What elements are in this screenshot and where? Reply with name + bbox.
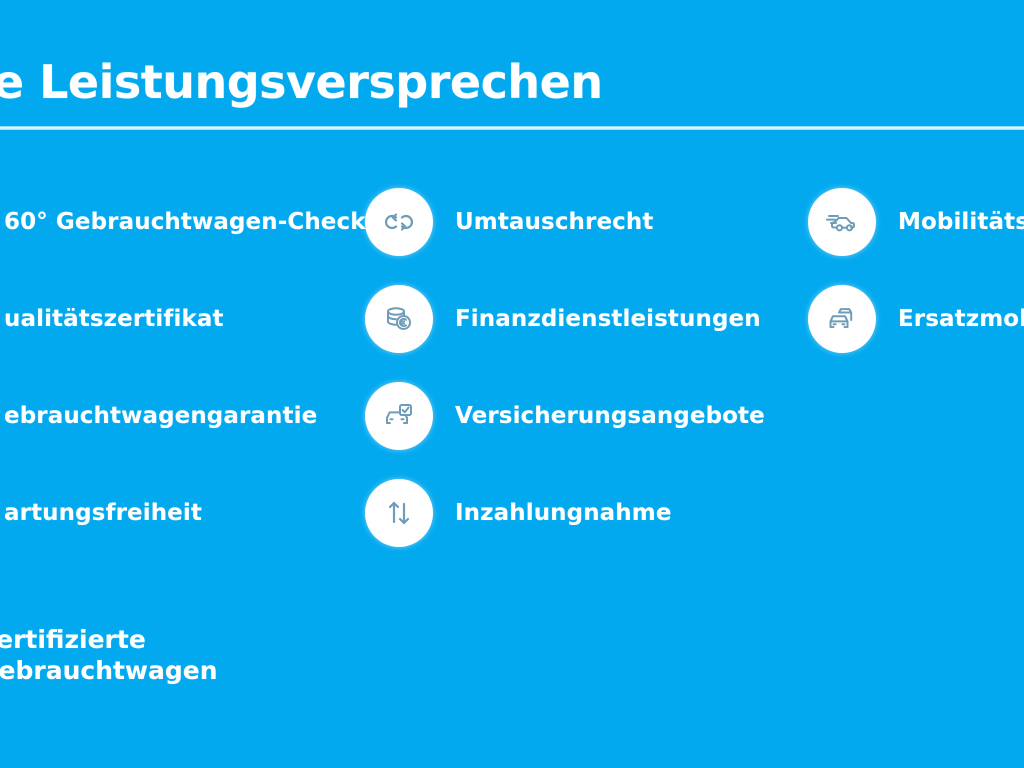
list-item[interactable]: Versicherungsangebote — [365, 382, 765, 450]
coins-euro-icon — [365, 285, 433, 353]
list-item-label: 60° Gebrauchtwagen-Check — [4, 209, 366, 235]
list-item-label: artungsfreiheit — [4, 500, 202, 526]
list-item[interactable]: Inzahlungnahme — [365, 479, 672, 547]
list-item[interactable]: Ersatzmob — [808, 285, 1024, 353]
page-header: ere Leistungsversprechen — [0, 0, 1024, 128]
up-down-arrows-icon — [365, 479, 433, 547]
list-item-label: ebrauchtwagengarantie — [4, 403, 317, 429]
two-cars-icon — [808, 285, 876, 353]
car-speed-icon — [808, 188, 876, 256]
list-item-label: Inzahlungnahme — [455, 500, 672, 526]
list-item[interactable]: ualitätszertifikat — [0, 285, 224, 353]
list-item[interactable]: Umtauschrecht — [365, 188, 653, 256]
list-item[interactable]: Finanzdienstleistungen — [365, 285, 761, 353]
list-item[interactable]: artungsfreiheit — [0, 479, 202, 547]
list-item[interactable]: Mobilitäts — [808, 188, 1024, 256]
list-item-label: Umtauschrecht — [455, 209, 653, 235]
list-item[interactable]: 60° Gebrauchtwagen-Check — [0, 188, 366, 256]
list-item[interactable]: ebrauchtwagengarantie — [0, 382, 317, 450]
list-item-label: Mobilitäts — [898, 209, 1024, 235]
page-title: ere Leistungsversprechen — [0, 55, 603, 109]
car-checkmark-icon — [365, 382, 433, 450]
list-item-label: Ersatzmob — [898, 306, 1024, 332]
exchange-arrows-icon — [365, 188, 433, 256]
list-item-label: Finanzdienstleistungen — [455, 306, 761, 332]
list-item-label: ualitätszertifikat — [4, 306, 224, 332]
list-item-label: Versicherungsangebote — [455, 403, 765, 429]
footer-claim: Zertifizierte Gebrauchtwagen — [0, 625, 218, 686]
